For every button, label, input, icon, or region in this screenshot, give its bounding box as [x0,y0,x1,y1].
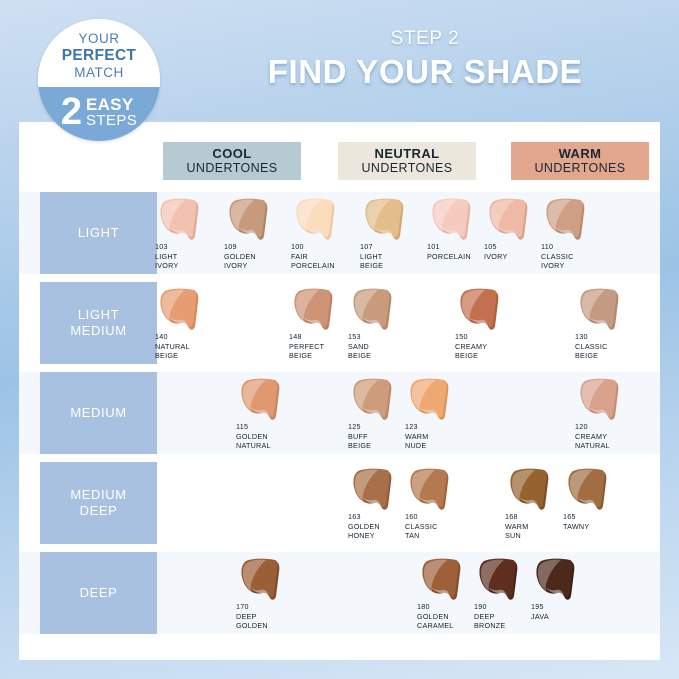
shade-code: 110 [541,242,574,252]
shade-code: 170 [236,602,268,612]
foundation-smear-icon [404,378,458,422]
foundation-smear-icon [223,198,277,242]
shade-label: 160CLASSIC TAN [405,512,438,541]
badge-line-perfect: PERFECT [62,47,136,65]
shade-chart-card: COOLUNDERTONESNEUTRALUNDERTONESWARMUNDER… [19,122,660,660]
foundation-smear-icon [416,558,470,602]
shade-name: BUFF BEIGE [348,432,371,451]
foundation-smear-icon [359,198,413,242]
shade-name: NATURAL BEIGE [155,342,190,361]
row-label-light-medium: LIGHT MEDIUM [40,282,157,364]
shade-label: 107LIGHT BEIGE [360,242,383,271]
column-header-cool: COOLUNDERTONES [163,142,301,180]
badge-step-number: 2 [61,96,82,128]
foundation-smear-icon [154,288,208,332]
badge-line-match: MATCH [74,65,124,81]
shade-name: JAVA [531,612,549,622]
shade-code: 168 [505,512,529,522]
foundation-smear-icon [290,198,344,242]
column-header-title: WARM [559,147,602,162]
shade-label: 110CLASSIC IVORY [541,242,574,271]
shade-code: 100 [291,242,335,252]
column-header-warm: WARMUNDERTONES [511,142,649,180]
foundation-smear-icon [540,198,594,242]
page-header: YOUR PERFECT MATCH 2 EASY STEPS STEP 2 F… [0,0,679,124]
row-label-text: LIGHT [78,225,119,241]
shade-code: 153 [348,332,371,342]
shade-swatch-100[interactable]: 100FAIR PORCELAIN [288,192,360,274]
foundation-smear-icon [347,468,401,512]
shade-name: LIGHT BEIGE [360,252,383,271]
badge-bottom-half: 2 EASY STEPS [38,87,160,141]
badge-line-your: YOUR [78,31,119,47]
shade-code: 195 [531,602,549,612]
badge-steps-group: EASY STEPS [86,96,137,129]
shade-swatch-140[interactable]: 140NATURAL BEIGE [152,282,224,364]
foundation-smear-icon [473,558,527,602]
shade-code: 140 [155,332,190,342]
shade-code: 148 [289,332,324,342]
shade-swatch-123[interactable]: 123WARM NUDE [402,372,474,454]
shade-code: 190 [474,602,505,612]
shade-label: 163GOLDEN HONEY [348,512,380,541]
shade-name: GOLDEN CARAMEL [417,612,454,631]
row-label-light: LIGHT [40,192,157,274]
shade-label: 153SAND BEIGE [348,332,371,361]
foundation-smear-icon [347,288,401,332]
shade-name: PERFECT BEIGE [289,342,324,361]
shade-name: WARM NUDE [405,432,429,451]
shade-label: 180GOLDEN CARAMEL [417,602,454,631]
shade-swatch-160[interactable]: 160CLASSIC TAN [402,462,474,544]
shade-label: 109GOLDEN IVORY [224,242,256,271]
shade-name: CREAMY BEIGE [455,342,487,361]
row-label-medium: MEDIUM [40,372,157,454]
shade-label: 115GOLDEN NATURAL [236,422,271,451]
shade-row: LIGHT103LIGHT IVORY109GOLDEN IVORY100FAI… [19,192,660,274]
shade-row: LIGHT MEDIUM140NATURAL BEIGE148PERFECT B… [19,282,660,364]
shade-swatch-109[interactable]: 109GOLDEN IVORY [221,192,293,274]
foundation-smear-icon [426,198,480,242]
shade-label: 120CREAMY NATURAL [575,422,610,451]
shade-name: SAND BEIGE [348,342,371,361]
column-header-subtitle: UNDERTONES [534,161,625,175]
shade-code: 103 [155,242,179,252]
shade-row: DEEP170DEEP GOLDEN180GOLDEN CARAMEL190DE… [19,552,660,634]
shade-label: 148PERFECT BEIGE [289,332,324,361]
shade-label: 130CLASSIC BEIGE [575,332,608,361]
shade-label: 100FAIR PORCELAIN [291,242,335,271]
shade-name: DEEP GOLDEN [236,612,268,631]
foundation-smear-icon [574,288,628,332]
shade-row: MEDIUM DEEP163GOLDEN HONEY160CLASSIC TAN… [19,462,660,544]
shade-swatch-150[interactable]: 150CREAMY BEIGE [452,282,524,364]
shade-name: PORCELAIN [427,252,471,262]
foundation-smear-icon [404,468,458,512]
title-block: STEP 2 FIND YOUR SHADE [190,28,660,91]
foundation-smear-icon [235,378,289,422]
shade-code: 115 [236,422,271,432]
shade-label: 168WARM SUN [505,512,529,541]
foundation-smear-icon [504,468,558,512]
column-header-neutral: NEUTRALUNDERTONES [338,142,476,180]
shade-row: MEDIUM115GOLDEN NATURAL125BUFF BEIGE123W… [19,372,660,454]
perfect-match-badge: YOUR PERFECT MATCH 2 EASY STEPS [38,19,160,141]
column-header-subtitle: UNDERTONES [361,161,452,175]
badge-easy-label: EASY [86,96,137,113]
shade-name: GOLDEN IVORY [224,252,256,271]
page-title: FIND YOUR SHADE [190,53,660,91]
shade-name: WARM SUN [505,522,529,541]
shade-name: CLASSIC IVORY [541,252,574,271]
column-header-subtitle: UNDERTONES [186,161,277,175]
foundation-smear-icon [454,288,508,332]
shade-code: 123 [405,422,429,432]
shade-label: 125BUFF BEIGE [348,422,371,451]
shade-code: 109 [224,242,256,252]
foundation-smear-icon [530,558,584,602]
shade-name: GOLDEN NATURAL [236,432,271,451]
foundation-smear-icon [154,198,208,242]
shade-name: FAIR PORCELAIN [291,252,335,271]
shade-code: 150 [455,332,487,342]
shade-code: 165 [563,512,589,522]
shade-swatch-107[interactable]: 107LIGHT BEIGE [357,192,429,274]
shade-name: GOLDEN HONEY [348,522,380,541]
shade-name: IVORY [484,252,508,262]
row-label-text: MEDIUM DEEP [70,487,126,520]
shade-code: 160 [405,512,438,522]
badge-steps-label: STEPS [86,113,137,129]
foundation-smear-icon [483,198,537,242]
column-header-title: NEUTRAL [375,147,440,162]
foundation-smear-icon [288,288,342,332]
shade-swatch-153[interactable]: 153SAND BEIGE [345,282,417,364]
shade-label: 101PORCELAIN [427,242,471,261]
shade-name: LIGHT IVORY [155,252,179,271]
shade-label: 170DEEP GOLDEN [236,602,268,631]
shade-name: TAWNY [563,522,589,532]
shade-swatch-110[interactable]: 110CLASSIC IVORY [538,192,610,274]
foundation-smear-icon [235,558,289,602]
shade-code: 180 [417,602,454,612]
shade-code: 163 [348,512,380,522]
column-header-title: COOL [212,147,251,162]
shade-code: 125 [348,422,371,432]
shade-label: 140NATURAL BEIGE [155,332,190,361]
shade-code: 105 [484,242,508,252]
shade-name: CLASSIC BEIGE [575,342,608,361]
shade-code: 120 [575,422,610,432]
shade-swatch-120[interactable]: 120CREAMY NATURAL [572,372,644,454]
row-label-medium-deep: MEDIUM DEEP [40,462,157,544]
row-label-deep: DEEP [40,552,157,634]
shade-name: CREAMY NATURAL [575,432,610,451]
shade-swatch-115[interactable]: 115GOLDEN NATURAL [233,372,305,454]
shade-name: CLASSIC TAN [405,522,438,541]
shade-swatch-195[interactable]: 195JAVA [528,552,600,634]
foundation-smear-icon [347,378,401,422]
shade-swatch-170[interactable]: 170DEEP GOLDEN [233,552,305,634]
shade-code: 101 [427,242,471,252]
step-label: STEP 2 [190,28,660,50]
row-label-text: LIGHT MEDIUM [70,307,126,340]
shade-label: 165TAWNY [563,512,589,531]
shade-code: 107 [360,242,383,252]
shade-label: 105IVORY [484,242,508,261]
foundation-smear-icon [562,468,616,512]
badge-top-half: YOUR PERFECT MATCH [38,19,160,87]
foundation-smear-icon [574,378,628,422]
row-label-text: DEEP [80,585,118,601]
shade-name: DEEP BRONZE [474,612,505,631]
shade-swatch-165[interactable]: 165TAWNY [560,462,632,544]
shade-swatch-130[interactable]: 130CLASSIC BEIGE [572,282,644,364]
shade-swatch-103[interactable]: 103LIGHT IVORY [152,192,224,274]
shade-label: 150CREAMY BEIGE [455,332,487,361]
shade-label: 190DEEP BRONZE [474,602,505,631]
shade-label: 123WARM NUDE [405,422,429,451]
shade-code: 130 [575,332,608,342]
row-label-text: MEDIUM [70,405,126,421]
shade-label: 195JAVA [531,602,549,621]
shade-label: 103LIGHT IVORY [155,242,179,271]
